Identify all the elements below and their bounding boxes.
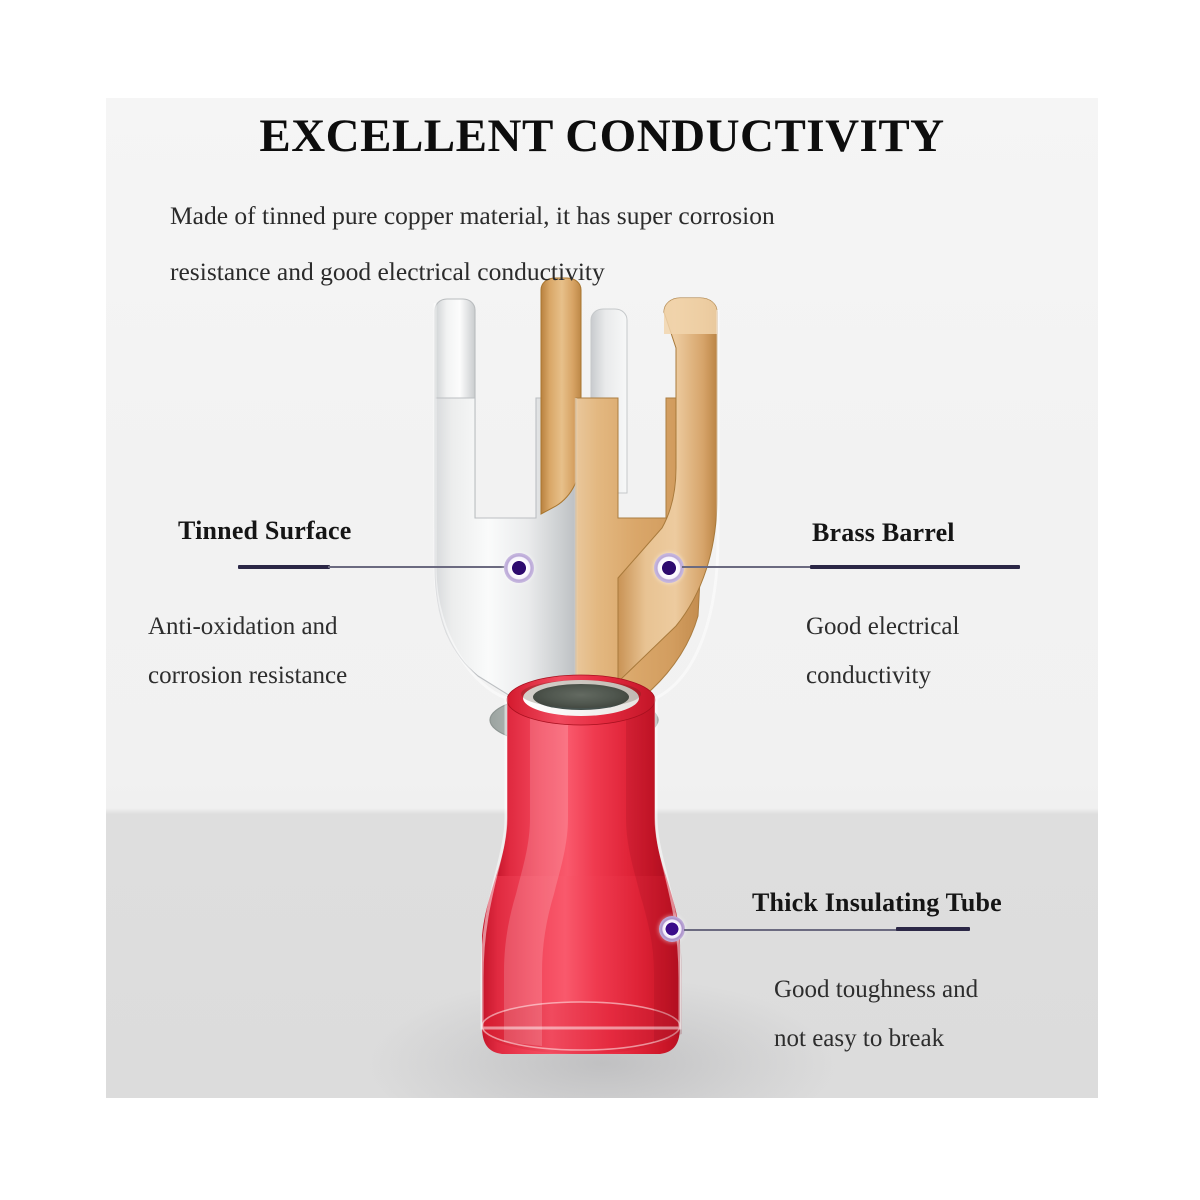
callout-brass-barrel-leader-bold [810, 565, 1020, 569]
callout-brass-barrel-body-line2: conductivity [806, 652, 959, 701]
callout-brass-barrel-body-line1: Good electrical [806, 603, 959, 652]
page-title: EXCELLENT CONDUCTIVITY [106, 112, 1098, 161]
callout-tinned-surface-leader-bold [238, 565, 330, 569]
callout-insulating-tube-body-line1: Good toughness and [774, 966, 978, 1015]
callout-tinned-surface-marker-dot[interactable] [504, 553, 534, 583]
callout-tinned-surface-leader [328, 566, 510, 568]
barrel-contact-shadow [521, 680, 641, 708]
callout-insulating-tube-marker-dot[interactable] [659, 916, 685, 942]
callout-tinned-surface-body-line2: corrosion resistance [148, 652, 347, 701]
callout-brass-barrel-marker-dot[interactable] [654, 553, 684, 583]
callout-brass-barrel-body: Good electrical conductivity [806, 603, 959, 701]
callout-insulating-tube-leader [684, 929, 900, 931]
callout-brass-barrel-leader [682, 566, 812, 568]
page-subtitle: Made of tinned pure copper material, it … [170, 188, 1070, 299]
page-subtitle-line1: Made of tinned pure copper material, it … [170, 188, 1070, 244]
callout-brass-barrel-title: Brass Barrel [812, 518, 955, 548]
callout-insulating-tube-leader-bold [896, 927, 970, 931]
callout-insulating-tube-body-line2: not easy to break [774, 1015, 978, 1064]
brass-tine-highlight [664, 298, 717, 334]
page-subtitle-line2: resistance and good electrical conductiv… [170, 244, 1070, 300]
callout-insulating-tube-body: Good toughness and not easy to break [774, 966, 978, 1064]
callout-tinned-surface-title: Tinned Surface [178, 516, 352, 546]
callout-insulating-tube-title: Thick Insulating Tube [752, 888, 1002, 918]
callout-tinned-surface-body: Anti-oxidation and corrosion resistance [148, 603, 347, 701]
callout-tinned-surface-body-line1: Anti-oxidation and [148, 603, 347, 652]
infographic-canvas: Tinned Surface Anti-oxidation and corros… [0, 0, 1200, 1200]
